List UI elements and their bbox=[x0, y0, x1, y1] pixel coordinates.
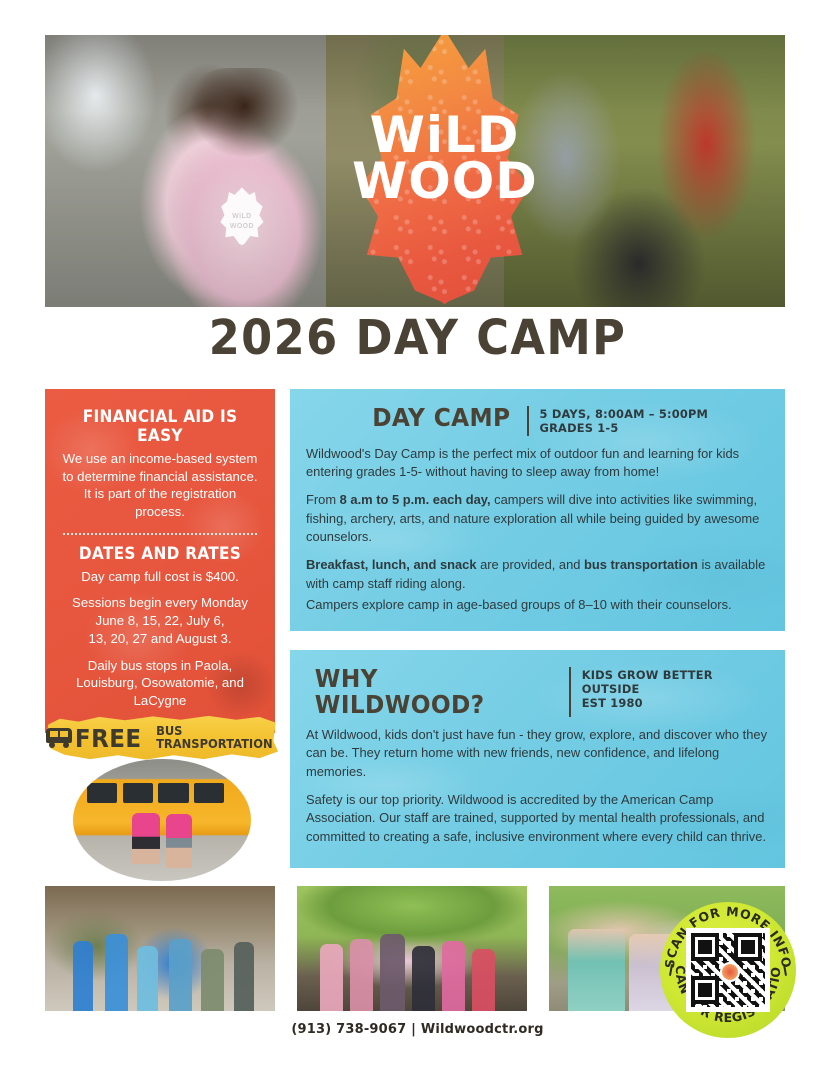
day-camp-cost: Day camp full cost is $400. bbox=[59, 568, 261, 586]
sessions-line-2: June 8, 15, 22, July 6, bbox=[59, 612, 261, 630]
bottom-photo-2 bbox=[297, 886, 527, 1011]
shirt-logo-line1: WiLD bbox=[219, 213, 265, 220]
sessions-line-1: Sessions begin every Monday bbox=[59, 594, 261, 612]
qr-finder-top-right bbox=[734, 933, 762, 961]
why-wildwood-heading: WHY WILDWOOD? bbox=[315, 666, 549, 717]
counselor-figure-1 bbox=[132, 813, 160, 864]
hero-banner: WiLD WOOD WiLD WOOD bbox=[45, 35, 785, 307]
why-wildwood-sub-line1: KIDS GROW BETTER OUTSIDE bbox=[582, 669, 769, 697]
logo-wordmark: WiLD WOOD bbox=[352, 112, 537, 204]
shirt-leaf-logo: WiLD WOOD bbox=[219, 187, 265, 245]
qr-badge[interactable]: SCAN FOR MORE INFO SCAN FOR REGISTRATION bbox=[660, 902, 796, 1038]
day-camp-paragraph-4: Campers explore camp in age-based groups… bbox=[306, 596, 769, 614]
bus-icon bbox=[46, 728, 65, 749]
why-wildwood-paragraph-2: Safety is our top priority. Wildwood is … bbox=[306, 791, 769, 846]
free-bus-banner: FREE BUS TRANSPORTATION bbox=[46, 714, 278, 762]
transportation-label: TRANSPORTATION bbox=[156, 738, 273, 751]
financial-aid-body: We use an income-based system to determi… bbox=[59, 450, 261, 521]
why-wildwood-sub-line2: EST 1980 bbox=[582, 697, 769, 711]
bottom-photo-1 bbox=[45, 886, 275, 1011]
shirt-logo-line2: WOOD bbox=[219, 223, 265, 230]
flyer-page: WiLD WOOD WiLD WOOD 2026 DAY CAMP FINANC… bbox=[0, 0, 835, 1080]
day-camp-sub-line2: GRADES 1-5 bbox=[540, 422, 709, 436]
bus-photo-circle bbox=[73, 759, 251, 881]
day-camp-paragraph-2: From 8 a.m to 5 p.m. each day, campers w… bbox=[306, 491, 769, 546]
qr-finder-top-left bbox=[691, 933, 719, 961]
footer-contact: (913) 738-9067 | Wildwoodctr.org bbox=[0, 1022, 835, 1037]
qr-finder-bottom-left bbox=[691, 976, 719, 1004]
panel-divider bbox=[63, 533, 257, 535]
day-camp-sub-line1: 5 DAYS, 8:00AM – 5:00PM bbox=[540, 408, 709, 422]
financial-aid-panel: FINANCIAL AID IS EASY We use an income-b… bbox=[45, 389, 275, 733]
sessions-line-3: 13, 20, 27 and August 3. bbox=[59, 630, 261, 648]
wildwood-leaf-logo: WiLD WOOD bbox=[352, 35, 537, 304]
day-camp-panel: DAY CAMP 5 DAYS, 8:00AM – 5:00PM GRADES … bbox=[290, 389, 785, 631]
day-camp-paragraph-1: Wildwood's Day Camp is the perfect mix o… bbox=[306, 445, 769, 482]
page-title: 2026 DAY CAMP bbox=[29, 310, 806, 366]
free-label: FREE bbox=[75, 724, 142, 753]
bus-stops-text: Daily bus stops in Paola, Louisburg, Oso… bbox=[59, 657, 261, 710]
day-camp-heading: DAY CAMP bbox=[372, 405, 510, 431]
logo-line-2: WOOD bbox=[352, 158, 537, 204]
day-camp-paragraph-3: Breakfast, lunch, and snack are provided… bbox=[306, 556, 769, 593]
financial-aid-heading: FINANCIAL AID IS EASY bbox=[66, 407, 254, 445]
why-wildwood-paragraph-1: At Wildwood, kids don't just have fun - … bbox=[306, 726, 769, 781]
heading-rule bbox=[569, 667, 571, 717]
heading-rule bbox=[527, 406, 529, 436]
why-wildwood-panel: WHY WILDWOOD? KIDS GROW BETTER OUTSIDE E… bbox=[290, 650, 785, 868]
counselor-figure-2 bbox=[166, 814, 193, 868]
dates-rates-heading: DATES AND RATES bbox=[66, 544, 254, 563]
qr-center-leaf-icon bbox=[720, 962, 740, 982]
